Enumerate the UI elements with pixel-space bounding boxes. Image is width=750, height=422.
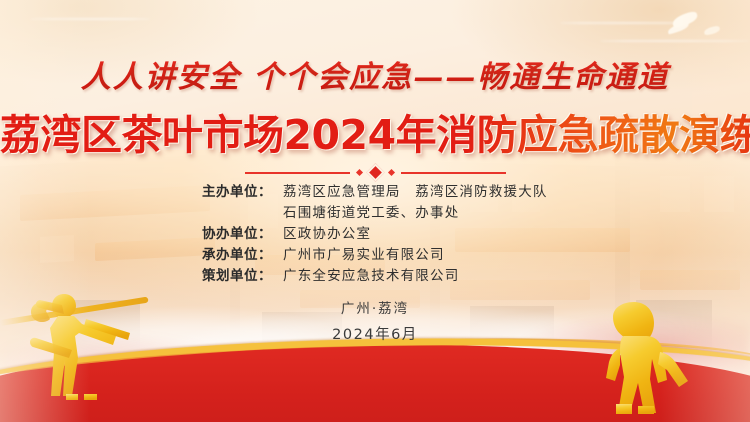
organizer-row: 主办单位： 荔湾区应急管理局 荔湾区消防救援大队 — [175, 180, 575, 200]
organizer-value: 广东全安应急技术有限公司 — [272, 264, 459, 284]
divider-rule-right — [401, 172, 506, 174]
poster-main-title: 荔湾区茶叶市场2024年消防应急疏散演练 — [0, 101, 750, 161]
fire-drill-poster: 人人讲安全 个个会应急——畅通生命通道 荔湾区茶叶市场2024年消防应急疏散演练… — [0, 0, 750, 422]
dove-icon — [671, 10, 699, 28]
organizer-value: 区政协办公室 — [272, 222, 371, 242]
dove-icon — [703, 25, 720, 35]
divider-dot-left — [355, 169, 362, 176]
poster-subtitle: 人人讲安全 个个会应急——畅通生命通道 — [0, 52, 750, 96]
place-and-date: 广州·荔湾 2024年6月 — [0, 297, 750, 344]
cloud-streak — [560, 22, 690, 24]
divider-rule-left — [245, 172, 350, 174]
ornamental-divider — [0, 166, 750, 179]
organizer-label: 协办单位： — [175, 222, 272, 242]
organizer-label: 策划单位： — [175, 264, 272, 284]
organizer-list: 主办单位： 荔湾区应急管理局 荔湾区消防救援大队 石围塘街道党工委、办事处 协办… — [0, 180, 750, 284]
cloud-streak — [30, 18, 150, 20]
organizer-row: 策划单位： 广东全安应急技术有限公司 — [175, 264, 575, 284]
organizer-value: 广州市广易实业有限公司 — [272, 243, 445, 263]
diamond-ornament-icon — [366, 163, 384, 181]
cloud-streak — [600, 40, 750, 42]
organizer-label: 承办单位： — [175, 243, 272, 263]
divider-dot-right — [387, 169, 394, 176]
event-date: 2024年6月 — [0, 323, 750, 344]
organizer-label: 主办单位： — [175, 180, 272, 200]
organizer-value-continuation: 石围塘街道党工委、办事处 — [175, 201, 459, 221]
organizer-row: 承办单位： 广州市广易实业有限公司 — [175, 243, 575, 263]
event-place: 广州·荔湾 — [0, 297, 750, 317]
organizer-row-continuation: 石围塘街道党工委、办事处 — [175, 201, 575, 221]
organizer-value: 荔湾区应急管理局 荔湾区消防救援大队 — [272, 180, 548, 200]
organizer-row: 协办单位： 区政协办公室 — [175, 222, 575, 242]
